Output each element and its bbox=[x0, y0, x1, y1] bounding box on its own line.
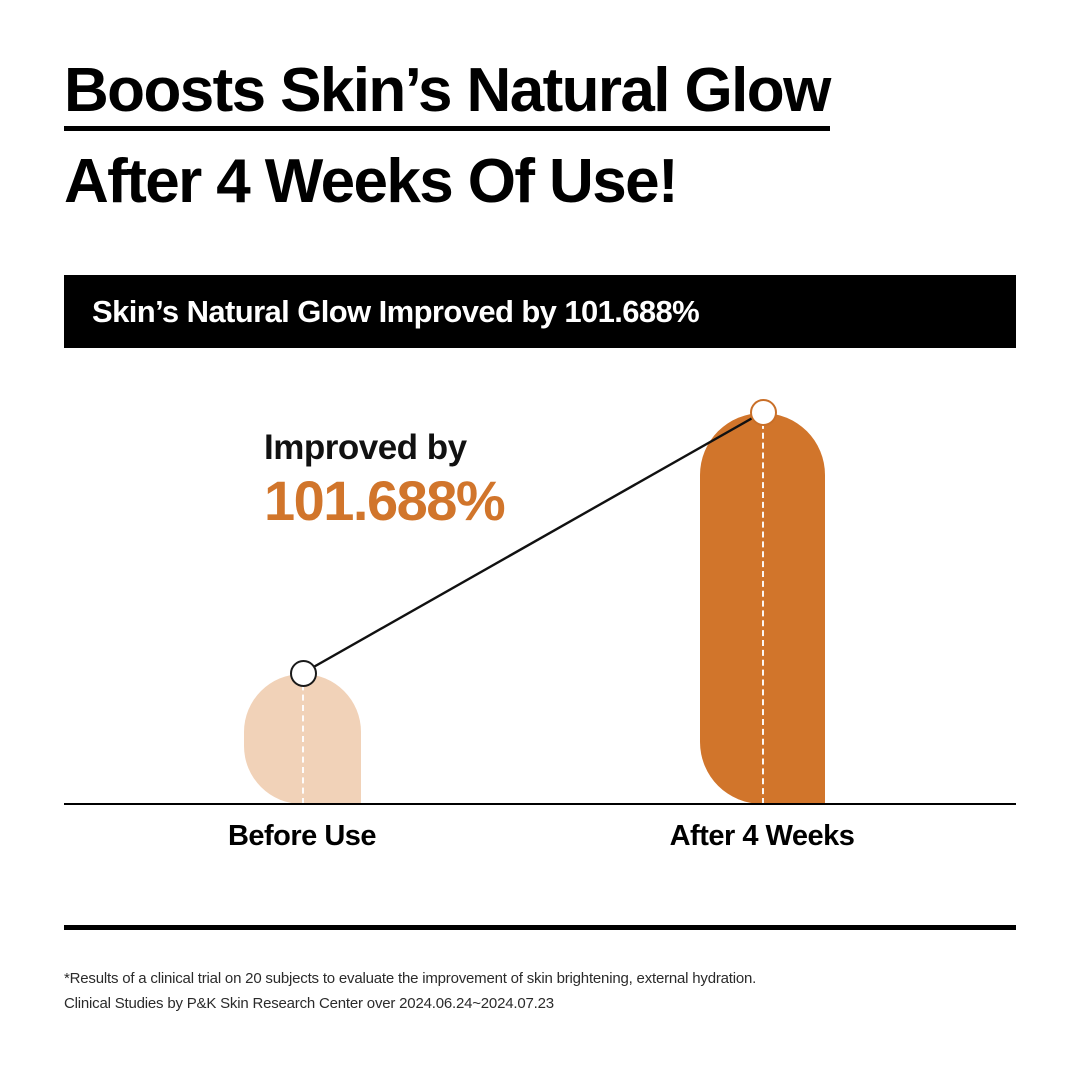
bar-before-use bbox=[244, 674, 361, 804]
headline-line-2: After 4 Weeks Of Use! bbox=[64, 149, 1024, 215]
infographic-page: Boosts Skin’s Natural Glow After 4 Weeks… bbox=[0, 0, 1080, 1080]
data-point-marker-before bbox=[290, 660, 317, 687]
bar-after-4-weeks bbox=[700, 413, 825, 804]
footer-divider bbox=[64, 925, 1016, 930]
category-label-after-4-weeks: After 4 Weeks bbox=[642, 820, 882, 853]
category-label-before-emphasis: Use bbox=[324, 820, 376, 852]
bar-after-center-dash bbox=[762, 413, 764, 804]
category-label-before-use: Before Use bbox=[182, 820, 422, 853]
bar-before-center-dash bbox=[302, 674, 304, 804]
headline-line-1: Boosts Skin’s Natural Glow bbox=[64, 58, 830, 124]
footnote-line-1: *Results of a clinical trial on 20 subje… bbox=[64, 966, 1004, 991]
data-point-marker-after bbox=[750, 399, 777, 426]
result-banner-text: Skin’s Natural Glow Improved by 101.688% bbox=[64, 294, 699, 330]
chart-baseline-axis bbox=[64, 803, 1016, 805]
page-title: Boosts Skin’s Natural Glow After 4 Weeks… bbox=[64, 58, 1024, 215]
category-label-after-prefix: After bbox=[670, 820, 743, 852]
category-label-after-emphasis: 4 Weeks bbox=[742, 820, 854, 852]
improvement-callout-value: 101.688% bbox=[264, 470, 504, 532]
footnote-line-2: Clinical Studies by P&K Skin Research Ce… bbox=[64, 991, 1004, 1016]
category-label-before-prefix: Before bbox=[228, 820, 324, 852]
improvement-callout: Improved by 101.688% bbox=[264, 428, 504, 532]
result-banner: Skin’s Natural Glow Improved by 101.688% bbox=[64, 275, 1016, 348]
footnote: *Results of a clinical trial on 20 subje… bbox=[64, 966, 1004, 1016]
improvement-callout-label: Improved by bbox=[264, 428, 504, 468]
headline-line-1-underlined: Boosts Skin’s Natural Glow bbox=[64, 58, 830, 131]
